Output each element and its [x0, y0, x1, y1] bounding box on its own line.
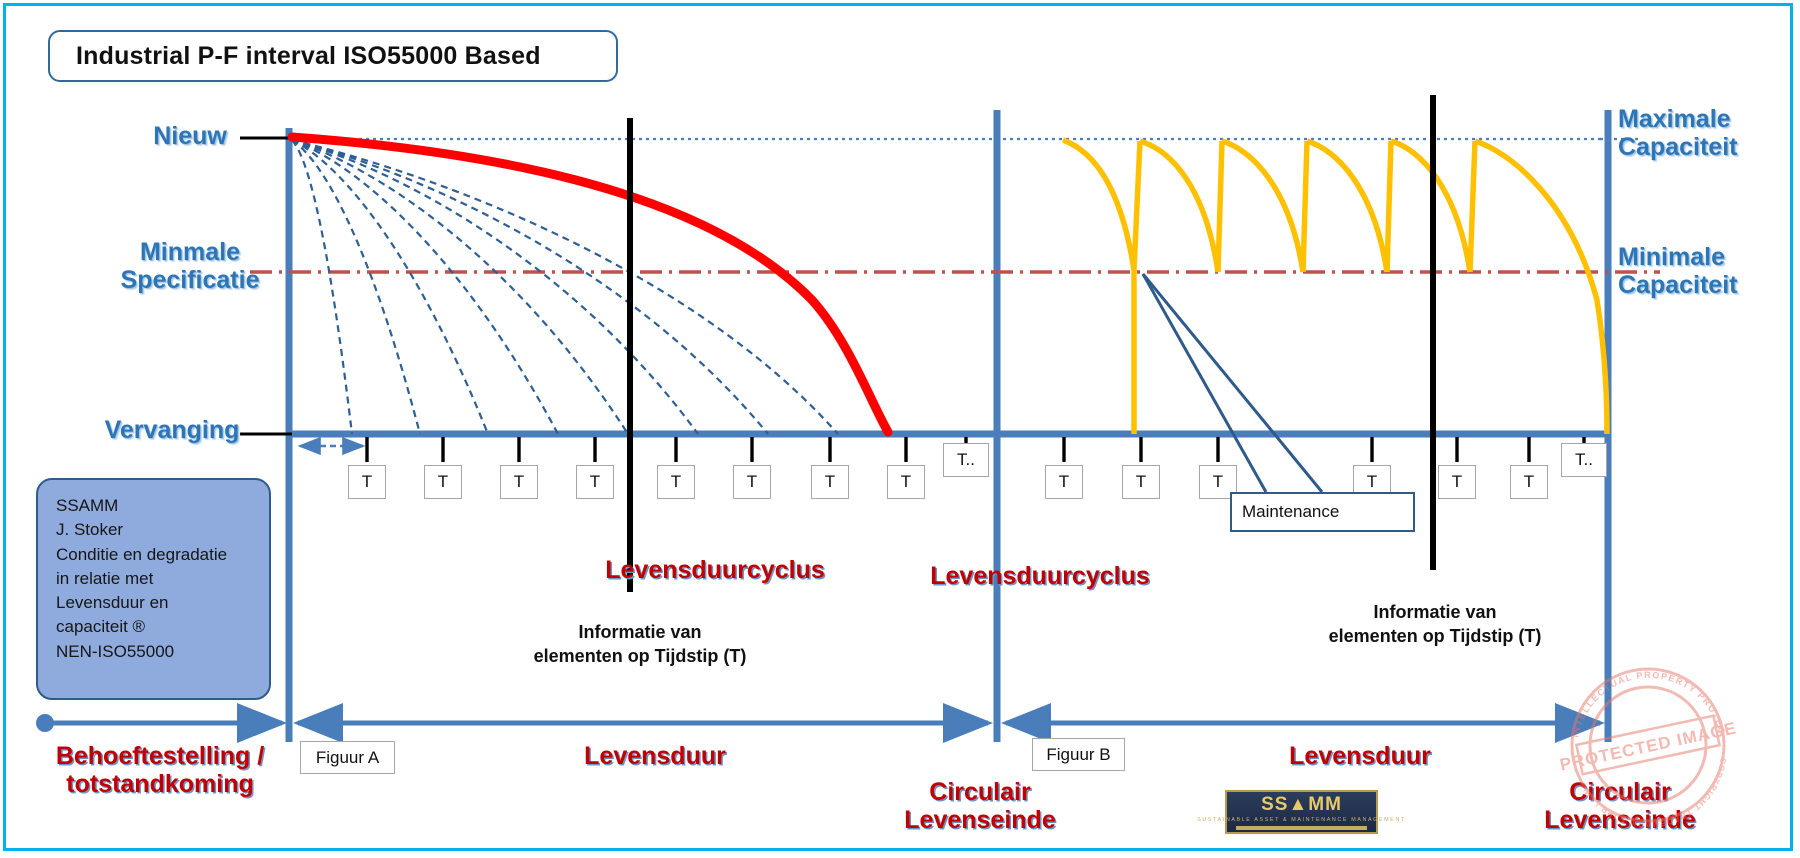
info-line-6: capaciteit ® — [56, 615, 269, 639]
t-marker-a-7: T — [811, 465, 849, 499]
t-marker-b-2: T — [1122, 465, 1160, 499]
ssamm-logo-wordmark: SS▲MM — [1261, 795, 1342, 814]
maintenance-label: Maintenance — [1232, 502, 1339, 522]
t-marker-b-6: T — [1510, 465, 1548, 499]
axis-label-nieuw: Nieuw — [110, 122, 270, 150]
bottom-timeline — [36, 714, 1600, 732]
t-marker-b-1: T — [1045, 465, 1083, 499]
figure-a-end-of-life-label: Circulair Levenseinde — [880, 778, 1080, 834]
figure-a-info-line2: elementen op Tijdstip (T) — [495, 644, 785, 668]
need-phase-label: Behoeftestelling / totstandkoming — [30, 742, 290, 798]
axis-label-max-capacity-line2: Capaciteit — [1618, 133, 1800, 161]
figure-b-info-label: Informatie van elementen op Tijdstip (T) — [1290, 600, 1580, 649]
figure-b-capacity-cycles — [1063, 140, 1607, 434]
t-marker-a-3: T — [500, 465, 538, 499]
figure-b-eol-line1: Circulair — [1520, 778, 1720, 806]
figure-a-tick-marks — [367, 437, 966, 462]
t-marker-a-9: T.. — [943, 443, 989, 477]
ssamm-logo-bar — [1236, 826, 1367, 830]
t-marker-a-5: T — [657, 465, 695, 499]
axis-label-minimum-spec: Minmale Specificatie — [80, 238, 300, 294]
axis-label-vervanging: Vervanging — [62, 416, 282, 444]
axis-label-min-capacity-line2: Capaciteit — [1618, 271, 1800, 299]
axis-label-min-capacity: Minimale Capaciteit — [1618, 243, 1800, 299]
source-info-box: SSAMM J. Stoker Conditie en degradatie i… — [36, 478, 271, 700]
figure-b-eol-line2: Levenseinde — [1520, 806, 1720, 834]
figure-b-cycle-label: Levensduurcyclus — [890, 562, 1190, 590]
figure-a-eol-line1: Circulair — [880, 778, 1080, 806]
t-marker-a-2: T — [424, 465, 462, 499]
axis-label-minimum-spec-line1: Minmale — [80, 238, 300, 266]
figure-a-eol-line2: Levenseinde — [880, 806, 1080, 834]
t-marker-b-7: T.. — [1561, 443, 1607, 477]
ssamm-logo-tagline: SUSTAINABLE ASSET & MAINTENANCE MANAGEME… — [1197, 817, 1406, 823]
axis-label-max-capacity-line1: Maximale — [1618, 105, 1800, 133]
figure-a-info-line1: Informatie van — [495, 620, 785, 644]
figure-a-label-box: Figuur A — [300, 741, 395, 774]
t-marker-a-4: T — [576, 465, 614, 499]
info-line-1: SSAMM — [56, 494, 269, 518]
need-phase-line1: Behoeftestelling / — [30, 742, 290, 770]
t-marker-a-6: T — [733, 465, 771, 499]
figure-b-lifespan-label: Levensduur — [1250, 742, 1470, 770]
info-line-4: in relatie met — [56, 567, 269, 591]
axis-label-min-capacity-line1: Minimale — [1618, 243, 1800, 271]
figure-a-cycle-label: Levensduurcyclus — [565, 556, 865, 584]
info-line-5: Levensduur en — [56, 591, 269, 615]
info-line-3: Conditie en degradatie — [56, 543, 269, 567]
figure-b-info-line2: elementen op Tijdstip (T) — [1290, 624, 1580, 648]
figure-a-lifespan-label: Levensduur — [545, 742, 765, 770]
figure-a-degradation-family — [292, 140, 838, 434]
t-marker-b-5: T — [1438, 465, 1476, 499]
figure-b-tick-marks — [1064, 437, 1584, 462]
need-phase-line2: totstandkoming — [30, 770, 290, 798]
diagram-page: Industrial P-F interval ISO55000 Based — [0, 0, 1800, 858]
maintenance-callout-box: Maintenance — [1230, 492, 1415, 532]
figure-b-info-line1: Informatie van — [1290, 600, 1580, 624]
t-marker-a-8: T — [887, 465, 925, 499]
maintenance-leader-lines — [1143, 274, 1322, 492]
axis-label-minimum-spec-line2: Specificatie — [80, 266, 300, 294]
info-line-2: J. Stoker — [56, 518, 269, 542]
axis-label-max-capacity: Maximale Capaciteit — [1618, 105, 1800, 161]
t-marker-a-1: T — [348, 465, 386, 499]
ssamm-logo: SS▲MM SUSTAINABLE ASSET & MAINTENANCE MA… — [1225, 790, 1378, 834]
figure-b-label-box: Figuur B — [1032, 738, 1125, 771]
figure-a-info-label: Informatie van elementen op Tijdstip (T) — [495, 620, 785, 669]
info-line-7: NEN-ISO55000 — [56, 640, 269, 664]
figure-b-end-of-life-label: Circulair Levenseinde — [1520, 778, 1720, 834]
figure-a-main-degradation-curve — [292, 137, 888, 432]
